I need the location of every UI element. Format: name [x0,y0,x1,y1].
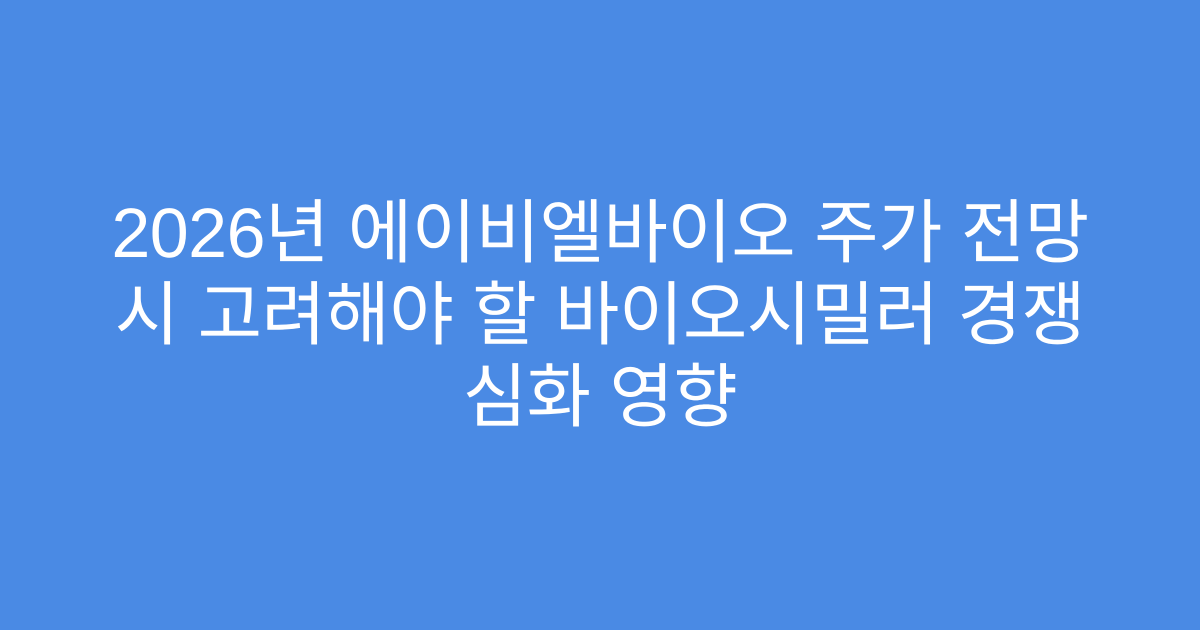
page-title: 2026년 에이비엘바이오 주가 전망 시 고려해야 할 바이오시밀러 경쟁 심… [78,192,1122,438]
og-card: 2026년 에이비엘바이오 주가 전망 시 고려해야 할 바이오시밀러 경쟁 심… [0,0,1200,630]
